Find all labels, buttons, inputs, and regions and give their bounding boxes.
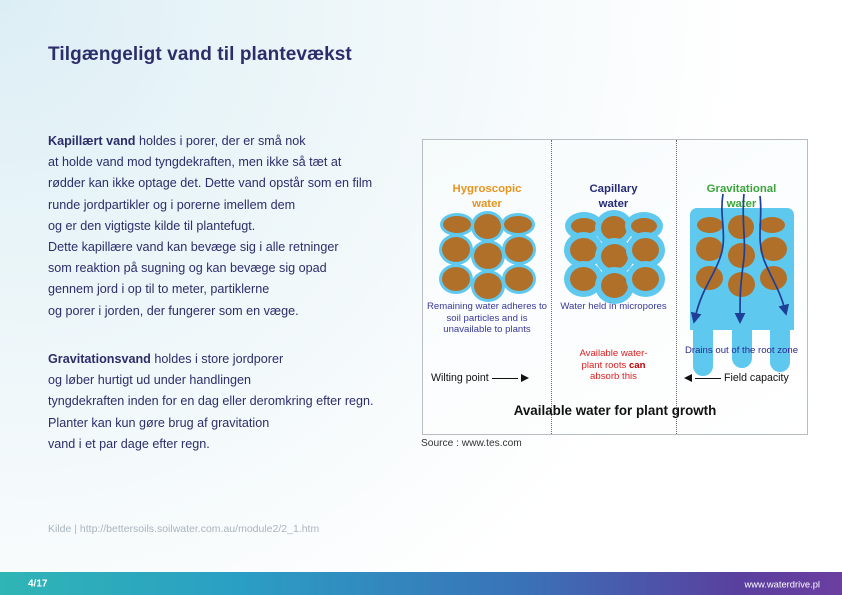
arrow-shaft-left xyxy=(695,378,721,379)
soil-particle xyxy=(504,216,532,233)
paragraph1-lead: Kapillært vand xyxy=(48,134,135,148)
footer-website-url[interactable]: www.waterdrive.pl xyxy=(744,578,820,589)
column-blurb-available-water: Available water- plant roots can absorb … xyxy=(551,348,676,383)
column-heading-capillary: Capillary water xyxy=(551,182,676,211)
soil-particle xyxy=(570,238,597,262)
marker-wilting-point-label: Wilting point xyxy=(431,372,489,384)
column-heading-hygroscopic-line2: water xyxy=(423,197,551,212)
paragraph1-line-1: at holde vand mod tyngdekraften, men ikk… xyxy=(48,152,372,173)
paragraph2-line-4: vand i et par dage efter regn. xyxy=(48,434,374,455)
page-title: Tilgængeligt vand til plantevækst xyxy=(48,44,352,66)
diagram-column-capillary: Capillary water Water held in micropores… xyxy=(551,140,676,434)
soil-particle xyxy=(601,273,628,298)
soil-particle xyxy=(571,218,597,234)
paragraph1-line-7: gennem jord i op til to meter, partikler… xyxy=(48,279,372,300)
column-heading-capillary-line1: Capillary xyxy=(551,182,676,197)
marker-field-capacity-label: Field capacity xyxy=(724,372,789,384)
soil-particle xyxy=(442,267,470,291)
available-water-line3: absorb this xyxy=(551,371,676,383)
paragraph1-line-8: og porer i jorden, der fungerer som en v… xyxy=(48,301,372,322)
footer-bar: 4/17 www.waterdrive.pl xyxy=(0,572,842,595)
paragraph2-lead: Gravitationsvand xyxy=(48,352,151,366)
soil-particle xyxy=(632,267,659,291)
column-heading-hygroscopic-line1: Hygroscopic xyxy=(423,182,551,197)
paragraph-gravitational-water: Gravitationsvand holdes i store jordpore… xyxy=(48,349,374,455)
diagram-column-gravitational: Gravitational water xyxy=(676,140,807,434)
slide-canvas: Tilgængeligt vand til plantevækst Kapill… xyxy=(0,0,842,595)
soil-cluster-hygroscopic xyxy=(439,216,535,302)
marker-wilting-point: Wilting point xyxy=(431,372,529,384)
soil-particle xyxy=(601,244,628,269)
soil-particle xyxy=(632,238,659,262)
marker-field-capacity: Field capacity xyxy=(684,372,789,384)
arrow-head-right-icon xyxy=(521,374,529,382)
soil-particle xyxy=(631,218,657,234)
soil-particle xyxy=(474,243,502,269)
soil-particle xyxy=(505,237,533,262)
soil-water-diagram: Hygroscopic water Remaining water adhere… xyxy=(422,139,808,435)
diagram-caption: Available water for plant growth xyxy=(423,403,807,418)
available-water-emphasis: can xyxy=(629,360,646,371)
column-blurb-hygroscopic: Remaining water adheres to soil particle… xyxy=(423,301,551,336)
paragraph1-line-6: som reaktion på sugning og kan bevæge si… xyxy=(48,258,372,279)
available-water-line1: Available water- xyxy=(551,348,676,360)
paragraph2-line-2: tyngdekraften inden for en dag eller der… xyxy=(48,391,374,412)
soil-particle xyxy=(601,216,627,240)
paragraph-capillary-water: Kapillært vand holdes i porer, der er sm… xyxy=(48,131,372,322)
paragraph2-line-0: holdes i store jordporer xyxy=(151,352,283,366)
figure-source-label: Source : www.tes.com xyxy=(421,438,522,449)
paragraph1-line-0: holdes i porer, der er små nok xyxy=(135,134,305,148)
paragraph1-line-2: rødder kan ikke optage det. Dette vand o… xyxy=(48,173,372,194)
column-blurb-capillary: Water held in micropores xyxy=(551,301,676,313)
soil-particle xyxy=(474,273,502,299)
paragraph1-line-4: og er den vigtigste kilde til plantefugt… xyxy=(48,216,372,237)
soil-particle xyxy=(570,267,597,291)
paragraph1-line-5: Dette kapillære vand kan bevæge sig i al… xyxy=(48,237,372,258)
arrow-shaft-right xyxy=(492,378,518,379)
column-blurb-gravitational: Drains out of the root zone xyxy=(676,345,807,357)
paragraph2-line-1: og løber hurtigt ud under handlingen xyxy=(48,370,374,391)
column-heading-capillary-line2: water xyxy=(551,197,676,212)
soil-particle xyxy=(443,216,471,233)
soil-particle xyxy=(505,267,533,291)
soil-particle xyxy=(442,237,470,262)
column-heading-hygroscopic: Hygroscopic water xyxy=(423,182,551,211)
soil-cluster-capillary xyxy=(564,216,664,302)
paragraph2-line-3: Planter kan kun gøre brug af gravitation xyxy=(48,413,374,434)
paragraph1-line-3: runde jordpartikler og i porerne imellem… xyxy=(48,195,372,216)
slide-source-credit: Kilde | http://bettersoils.soilwater.com… xyxy=(48,523,319,535)
drainage-flow-arrows-icon xyxy=(684,192,800,337)
soil-particle xyxy=(474,214,501,239)
available-water-line2a: plant roots xyxy=(581,360,628,371)
arrow-head-left-icon xyxy=(684,374,692,382)
page-number: 4/17 xyxy=(28,578,47,589)
diagram-column-hygroscopic: Hygroscopic water Remaining water adhere… xyxy=(423,140,551,434)
